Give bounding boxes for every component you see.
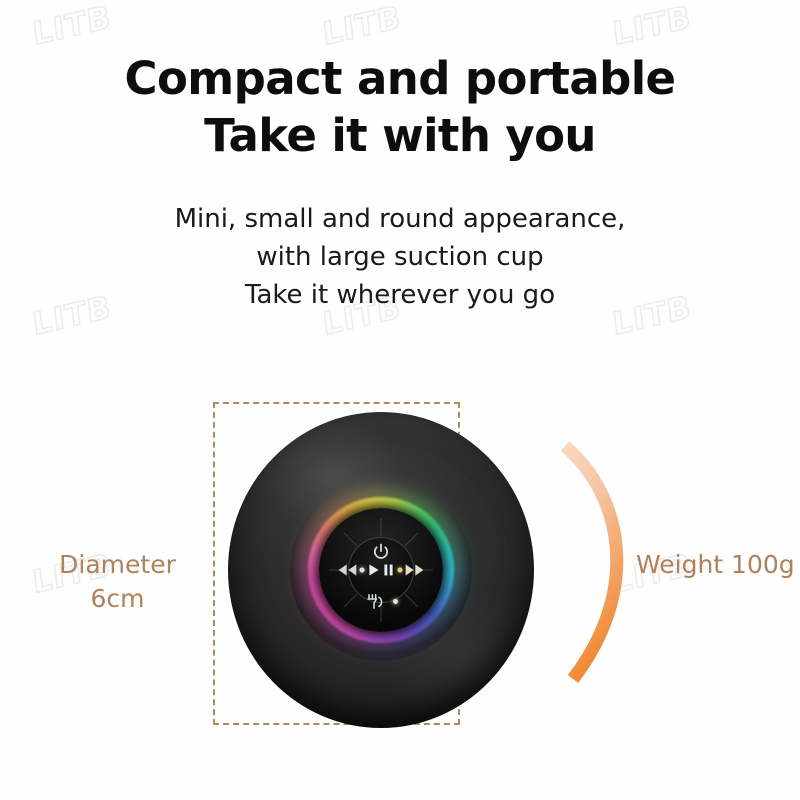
- pause-icon: [384, 564, 394, 577]
- diameter-label: Diameter 6cm: [30, 548, 205, 616]
- volume-up-dot: [398, 568, 403, 573]
- previous-button[interactable]: [337, 564, 358, 577]
- next-button[interactable]: [404, 564, 425, 577]
- weight-label-text: Weight 100g: [636, 548, 795, 582]
- next-icon: [404, 564, 425, 577]
- subtitle-line-2: with large suction cup: [0, 238, 800, 276]
- volume-down-dot: [360, 568, 365, 573]
- light-mode-button[interactable]: [364, 593, 398, 610]
- product-infographic: LITB LITB LITB LITB LITB LITB LITB LITB …: [0, 0, 800, 800]
- led-indicator-dot: [393, 599, 398, 604]
- watermark-text: LITB: [321, 0, 403, 53]
- headline: Compact and portable Take it with you: [0, 50, 800, 164]
- previous-icon: [337, 564, 358, 577]
- subtitle: Mini, small and round appearance, with l…: [0, 200, 800, 314]
- subtitle-line-3: Take it wherever you go: [0, 276, 800, 314]
- play-icon: [369, 564, 380, 577]
- watermark-text: LITB: [31, 0, 113, 53]
- play-pause-button[interactable]: [360, 564, 403, 577]
- headline-line-1: Compact and portable: [0, 50, 800, 107]
- diameter-label-text: Diameter: [30, 548, 205, 582]
- lamp-icon: [364, 593, 384, 610]
- subtitle-line-1: Mini, small and round appearance,: [0, 200, 800, 238]
- power-button[interactable]: [371, 542, 391, 562]
- control-face: [319, 508, 443, 632]
- weight-label: Weight 100g: [636, 548, 795, 582]
- bluetooth-speaker: [228, 412, 534, 728]
- power-icon: [371, 542, 391, 562]
- diameter-label-value: 6cm: [30, 582, 205, 616]
- watermark-text: LITB: [611, 0, 693, 53]
- headline-line-2: Take it with you: [0, 107, 800, 164]
